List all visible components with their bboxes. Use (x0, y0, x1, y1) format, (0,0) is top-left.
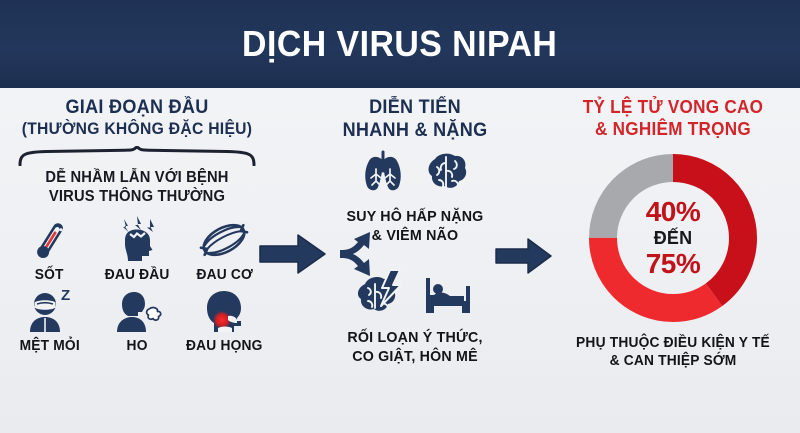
symptom-fever: SỐT (6, 216, 93, 283)
respiratory-caption-line1: SUY HÔ HẤP NẶNG (306, 207, 525, 226)
donut-center-labels: 40% ĐẾN 75% (585, 150, 761, 326)
stage-early-heading: GIAI ĐOẠN ĐẦU (13, 96, 262, 119)
symptom-label: ĐAU CƠ (196, 267, 253, 283)
fatigue-sleep-mask-icon: Z (21, 287, 79, 335)
symptom-sore-throat: ĐAU HỌNG (181, 287, 268, 354)
stage-progression-column: DIỄN TIẾN NHANH & NẶNG (300, 96, 530, 366)
symptom-label: ĐAU HỌNG (186, 338, 263, 354)
symptom-cough: HO (93, 287, 180, 354)
neurological-caption-line2: CO GIẬT, HÔN MÊ (306, 347, 525, 366)
stage-mortality-column: TỶ LỆ TỬ VONG CAO & NGHIÊM TRỌNG 40% ĐẾN… (548, 96, 798, 370)
symptom-label: MỆT MỎI (20, 338, 80, 354)
respiratory-icons (300, 150, 530, 202)
muscle-icon (197, 216, 251, 264)
block-respiratory: SUY HÔ HẤP NẶNG & VIÊM NÃO (300, 150, 530, 245)
brain-lightning-icon (354, 268, 406, 323)
lungs-icon (358, 147, 408, 202)
stage-progression-subheading: NHANH & NẶNG (306, 119, 525, 142)
sore-throat-head-icon (196, 287, 252, 335)
symptom-grid: SỐT ĐAU ĐẦU (6, 216, 268, 354)
brain-icon (422, 147, 472, 202)
neurological-caption-line1: RỐI LOẠN Ý THỨC, (306, 328, 525, 347)
hospital-bed-icon (420, 268, 476, 323)
curly-brace-icon (17, 146, 257, 166)
donut-connector: ĐẾN (654, 227, 693, 249)
symptom-label: ĐAU ĐẦU (105, 267, 170, 283)
mortality-heading: TỶ LỆ TỬ VONG CAO (554, 96, 792, 118)
cough-person-icon (108, 287, 166, 335)
thermometer-icon (28, 216, 72, 264)
respiratory-caption-line2: & VIÊM NÃO (306, 226, 525, 245)
stage-progression-heading: DIỄN TIẾN (306, 96, 525, 119)
block-neurological: RỐI LOẠN Ý THỨC, CO GIẬT, HÔN MÊ (300, 271, 530, 366)
stage-early-caption-line1: DỄ NHẦM LẪN VỚI BỆNH (13, 168, 262, 187)
symptom-myalgia: ĐAU CƠ (181, 216, 268, 283)
symptom-headache: ĐAU ĐẦU (93, 216, 180, 283)
headache-head-icon (111, 216, 163, 264)
mortality-subheading: & NGHIÊM TRỌNG (554, 118, 792, 140)
arrow-right-icon-2 (494, 236, 554, 281)
donut-value-low: 40% (646, 197, 701, 227)
mortality-caption-line1: PHỤ THUỘC ĐIỀU KIỆN Y TẾ (554, 334, 792, 352)
symptom-label: SỐT (35, 267, 64, 283)
mortality-donut-chart: 40% ĐẾN 75% (585, 150, 761, 326)
header-banner: DỊCH VIRUS NIPAH (0, 0, 800, 88)
stage-early-caption-line2: VIRUS THÔNG THƯỜNG (13, 187, 262, 206)
nipah-virus-infographic: DỊCH VIRUS NIPAH GIAI ĐOẠN ĐẦU (THƯỜNG K… (0, 0, 800, 433)
symptom-label: HO (126, 338, 147, 354)
stage-early-column: GIAI ĐOẠN ĐẦU (THƯỜNG KHÔNG ĐẶC HIỆU) DỄ… (6, 96, 268, 354)
page-title: DỊCH VIRUS NIPAH (242, 23, 557, 65)
symptom-fatigue: Z MỆT MỎI (6, 287, 93, 354)
donut-value-high: 75% (646, 249, 701, 279)
svg-text:Z: Z (61, 287, 70, 304)
stage-early-subheading: (THƯỜNG KHÔNG ĐẶC HIỆU) (13, 119, 262, 140)
mortality-caption-line2: & CAN THIỆP SỚM (554, 352, 792, 370)
